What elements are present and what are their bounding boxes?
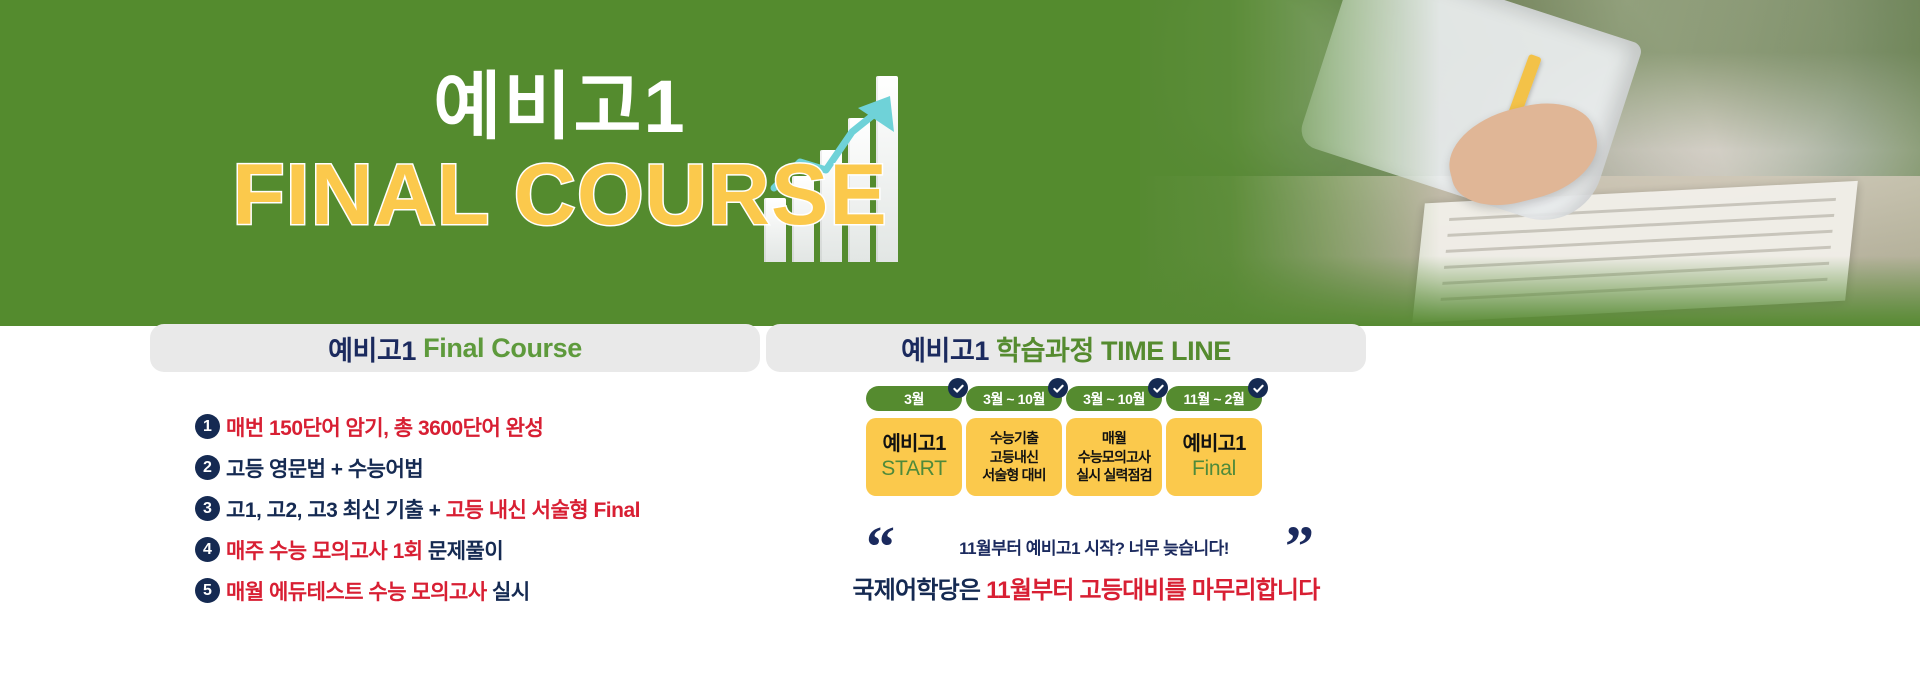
timeline-badge-label: 3월 ~ 10월: [983, 389, 1045, 409]
list-item-segment: 문제풀이: [428, 540, 503, 563]
list-item-segment: 고등 영문법 + 수능어법: [226, 458, 423, 481]
hero-title: 예비고1: [0, 70, 1120, 144]
timeline-card-line: 수능모의고사: [1078, 448, 1150, 466]
timeline-step-3: 3월 ~ 10월 매월 수능모의고사 실시 실력점검: [1066, 386, 1162, 496]
timeline-badge: 11월 ~ 2월: [1166, 386, 1262, 411]
tagline-part1: 국제어학당은: [853, 577, 987, 604]
timeline-card-line: 수능기출: [990, 429, 1038, 447]
list-item-segment: 고등 내신 서술형 Final: [446, 499, 640, 522]
timeline-badge-label: 11월 ~ 2월: [1183, 389, 1244, 409]
timeline-badge: 3월 ~ 10월: [966, 386, 1062, 411]
left-panel-header-part1: 예비고1: [328, 329, 416, 368]
list-item-segment: 매월 에듀테스트 수능 모의고사: [226, 581, 492, 604]
quote-open-icon: “: [866, 518, 895, 576]
timeline-card: 수능기출 고등내신 서술형 대비: [966, 418, 1062, 496]
list-item-segment: 매번 150단어 암기, 총 3600단어 완성: [226, 417, 543, 440]
timeline-card: 예비고1 Final: [1166, 418, 1262, 496]
quote-close-icon: ”: [1285, 518, 1314, 576]
timeline-step-4: 11월 ~ 2월 예비고1 Final: [1166, 386, 1262, 496]
check-icon: [1048, 378, 1068, 398]
hero-section: 예비고1 FINAL COURSE: [0, 0, 1920, 326]
timeline-badge-label: 3월 ~ 10월: [1083, 389, 1145, 409]
timeline-badge: 3월: [866, 386, 962, 411]
list-item: 3 고1, 고2, 고3 최신 기출 + 고등 내신 서술형 Final: [195, 488, 835, 529]
list-item-segment: 실시: [492, 581, 530, 604]
list-item-text: 고1, 고2, 고3 최신 기출 + 고등 내신 서술형 Final: [226, 494, 640, 524]
timeline-card-line: 서술형 대비: [982, 466, 1046, 484]
photo-bottom-fade: [1140, 256, 1920, 326]
list-item: 1 매번 150단어 암기, 총 3600단어 완성: [195, 406, 835, 447]
list-item-number: 2: [195, 455, 220, 480]
timeline-card: 예비고1 START: [866, 418, 962, 496]
right-panel-header-part2: 학습과정 TIME LINE: [996, 329, 1231, 368]
list-item-number: 3: [195, 496, 220, 521]
tagline-part2: 11월부터 고등대비를 마무리합니다: [986, 577, 1319, 604]
tagline: 국제어학당은 11월부터 고등대비를 마무리합니다: [836, 570, 1336, 605]
left-panel-header: 예비고1 Final Course: [150, 324, 760, 372]
check-icon: [1148, 378, 1168, 398]
list-item-number: 4: [195, 537, 220, 562]
list-item: 2 고등 영문법 + 수능어법: [195, 447, 835, 488]
content-section: 예비고1 Final Course 1 매번 150단어 암기, 총 3600단…: [0, 326, 1920, 690]
timeline-card-line: 고등내신: [990, 448, 1038, 466]
right-panel-header: 예비고1 학습과정 TIME LINE: [766, 324, 1366, 372]
course-feature-list: 1 매번 150단어 암기, 총 3600단어 완성 2 고등 영문법 + 수능…: [195, 406, 835, 611]
list-item: 5 매월 에듀테스트 수능 모의고사 실시: [195, 570, 835, 611]
timeline-card-line: 실시 실력점검: [1076, 466, 1152, 484]
timeline-card-line: 예비고1: [882, 433, 945, 456]
quote-text: 11월부터 예비고1 시작? 너무 늦습니다!: [924, 534, 1264, 559]
left-panel-header-part2: Final Course: [423, 333, 582, 364]
check-icon: [1248, 378, 1268, 398]
promotional-banner: 예비고1 FINAL COURSE 예비고1 Final Course 1 매번…: [0, 0, 1920, 690]
list-item-text: 매주 수능 모의고사 1회 문제풀이: [226, 535, 503, 565]
quote-row: “ 11월부터 예비고1 시작? 너무 늦습니다! ”: [866, 526, 1306, 570]
timeline-step-2: 3월 ~ 10월 수능기출 고등내신 서술형 대비: [966, 386, 1062, 496]
timeline-card-line: START: [881, 456, 946, 481]
list-item-text: 매월 에듀테스트 수능 모의고사 실시: [226, 576, 530, 606]
list-item-number: 1: [195, 414, 220, 439]
hero-subtitle: FINAL COURSE: [0, 152, 1120, 238]
timeline-card-line: Final: [1192, 456, 1236, 481]
list-item-number: 5: [195, 578, 220, 603]
right-panel-header-part1: 예비고1: [901, 329, 989, 368]
list-item-text: 매번 150단어 암기, 총 3600단어 완성: [226, 412, 543, 442]
timeline-badge: 3월 ~ 10월: [1066, 386, 1162, 411]
list-item-segment: 매주 수능 모의고사 1회: [226, 540, 428, 563]
check-icon: [948, 378, 968, 398]
timeline-badge-label: 3월: [904, 389, 924, 409]
timeline-card-line: 매월: [1102, 429, 1126, 447]
timeline-step-1: 3월 예비고1 START: [866, 386, 962, 496]
student-writing-photo: [1140, 0, 1920, 326]
timeline-card: 매월 수능모의고사 실시 실력점검: [1066, 418, 1162, 496]
list-item-text: 고등 영문법 + 수능어법: [226, 453, 423, 483]
list-item-segment: 고1, 고2, 고3 최신 기출 +: [226, 499, 446, 522]
list-item: 4 매주 수능 모의고사 1회 문제풀이: [195, 529, 835, 570]
timeline: 3월 예비고1 START 3월 ~ 10월: [866, 386, 1286, 506]
timeline-card-line: 예비고1: [1182, 433, 1245, 456]
